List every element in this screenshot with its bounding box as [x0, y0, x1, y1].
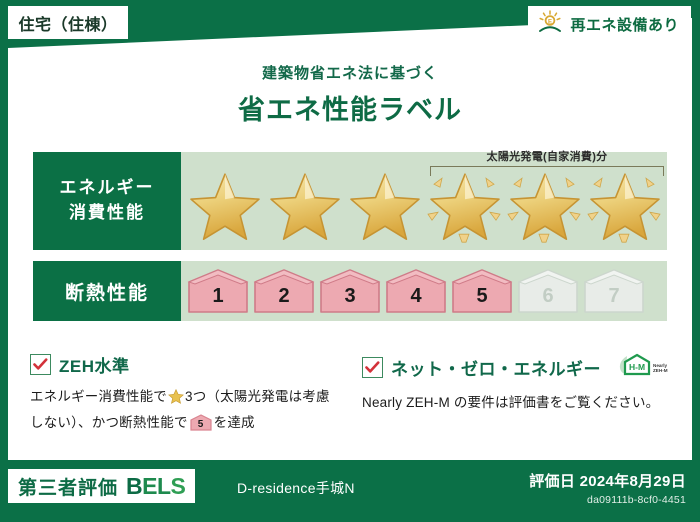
insulation-level-number: 7 — [583, 285, 645, 308]
insulation-level-5: 5 — [451, 268, 513, 314]
zeh-text-part3: を達成 — [214, 415, 255, 430]
check-icon — [30, 354, 51, 375]
insulation-level-number: 3 — [319, 285, 381, 308]
insulation-row-body: 1234567 — [181, 261, 667, 321]
title-subtitle: 建築物省エネ法に基づく — [0, 62, 700, 83]
bels-letter-s: S — [171, 473, 186, 499]
evaluation-info: 評価日 2024年8月29日 da09111b-8cf0-4451 — [529, 470, 686, 506]
zeh-m-caption-2: ZEH-M — [653, 368, 668, 373]
bels-letter-l: L — [157, 473, 171, 499]
zeh-text-stars: 3つ（太陽光発電 — [185, 389, 289, 404]
insulation-level-7: 7 — [583, 268, 645, 314]
insulation-level-2: 2 — [253, 268, 315, 314]
inline-house-badge: 5 — [190, 414, 212, 431]
inline-house-level: 5 — [190, 417, 212, 434]
zeh-standard-block: ZEH水準 エネルギー消費性能で3つ（太陽光発電は考慮しない）、かつ断熱性能で5… — [0, 352, 352, 434]
title-block: 建築物省エネ法に基づく 省エネ性能ラベル — [0, 62, 700, 127]
insulation-level-6: 6 — [517, 268, 579, 314]
zeh-m-logo: H-M Nearly ZEH-M — [615, 352, 669, 383]
star-1 — [185, 152, 265, 250]
svg-text:H-M: H-M — [629, 362, 645, 372]
building-type-label: 住宅（住棟） — [18, 11, 117, 35]
nzeb-heading-row: ネット・ゼロ・エネルギー H-M Nearly ZEH-M — [362, 352, 676, 383]
building-name: D-residence手城N — [237, 478, 355, 498]
insulation-level-number: 4 — [385, 285, 447, 308]
building-type-tag: 住宅（住棟） — [8, 6, 128, 39]
bels-logo: BELS — [126, 473, 185, 500]
solar-sun-icon: E — [537, 10, 563, 39]
solar-annotation: 太陽光発電(自家消費)分 — [424, 148, 670, 176]
title-main: 省エネ性能ラベル — [0, 88, 700, 127]
solar-annotation-label: 太陽光発電(自家消費)分 — [424, 148, 670, 164]
evaluation-id: da09111b-8cf0-4451 — [529, 494, 686, 506]
energy-row-label-line1: エネルギー — [60, 176, 155, 201]
insulation-level-3: 3 — [319, 268, 381, 314]
insulation-level-number: 1 — [187, 285, 249, 308]
bels-letter-b: B — [126, 473, 142, 499]
svg-text:E: E — [548, 19, 552, 25]
renewable-badge-label: 再エネ設備あり — [570, 14, 679, 35]
insulation-level-scale: 1234567 — [181, 261, 667, 321]
nzeb-description: Nearly ZEH-M の要件は評価書をご覧ください。 — [362, 392, 676, 415]
zeh-heading-row: ZEH水準 — [30, 352, 340, 377]
zeh-description: エネルギー消費性能で3つ（太陽光発電は考慮しない）、かつ断熱性能で5を達成 — [30, 386, 340, 434]
inline-star-icon — [168, 389, 184, 412]
star-3 — [345, 152, 425, 250]
footer-bar: 第三者評価 BELS D-residence手城N 評価日 2024年8月29日… — [0, 460, 700, 522]
third-party-eval-label: 第三者評価 — [18, 473, 118, 500]
star-2 — [265, 152, 345, 250]
insulation-level-4: 4 — [385, 268, 447, 314]
insulation-level-1: 1 — [187, 268, 249, 314]
check-icon — [362, 357, 383, 378]
bels-certification-box: 第三者評価 BELS — [8, 469, 195, 503]
evaluation-date: 評価日 2024年8月29日 — [529, 470, 686, 491]
zeh-heading: ZEH水準 — [59, 352, 130, 377]
insulation-level-number: 6 — [517, 285, 579, 308]
insulation-level-number: 5 — [451, 285, 513, 308]
bels-letter-e: E — [142, 473, 157, 499]
zeh-text-part1: エネルギー消費性能で — [30, 389, 167, 404]
energy-row-label-line2: 消費性能 — [69, 201, 145, 226]
solar-bracket — [430, 166, 664, 176]
insulation-row-label: 断熱性能 — [33, 261, 181, 321]
renewable-equipment-badge: E 再エネ設備あり — [528, 6, 691, 42]
insulation-performance-row: 断熱性能 1234567 — [33, 261, 667, 321]
criteria-columns: ZEH水準 エネルギー消費性能で3つ（太陽光発電は考慮しない）、かつ断熱性能で5… — [0, 352, 700, 434]
insulation-level-number: 2 — [253, 285, 315, 308]
net-zero-energy-block: ネット・ゼロ・エネルギー H-M Nearly ZEH-M Nearly ZEH… — [352, 352, 700, 434]
energy-row-label: エネルギー 消費性能 — [33, 152, 181, 250]
nzeb-heading: ネット・ゼロ・エネルギー — [391, 355, 601, 380]
